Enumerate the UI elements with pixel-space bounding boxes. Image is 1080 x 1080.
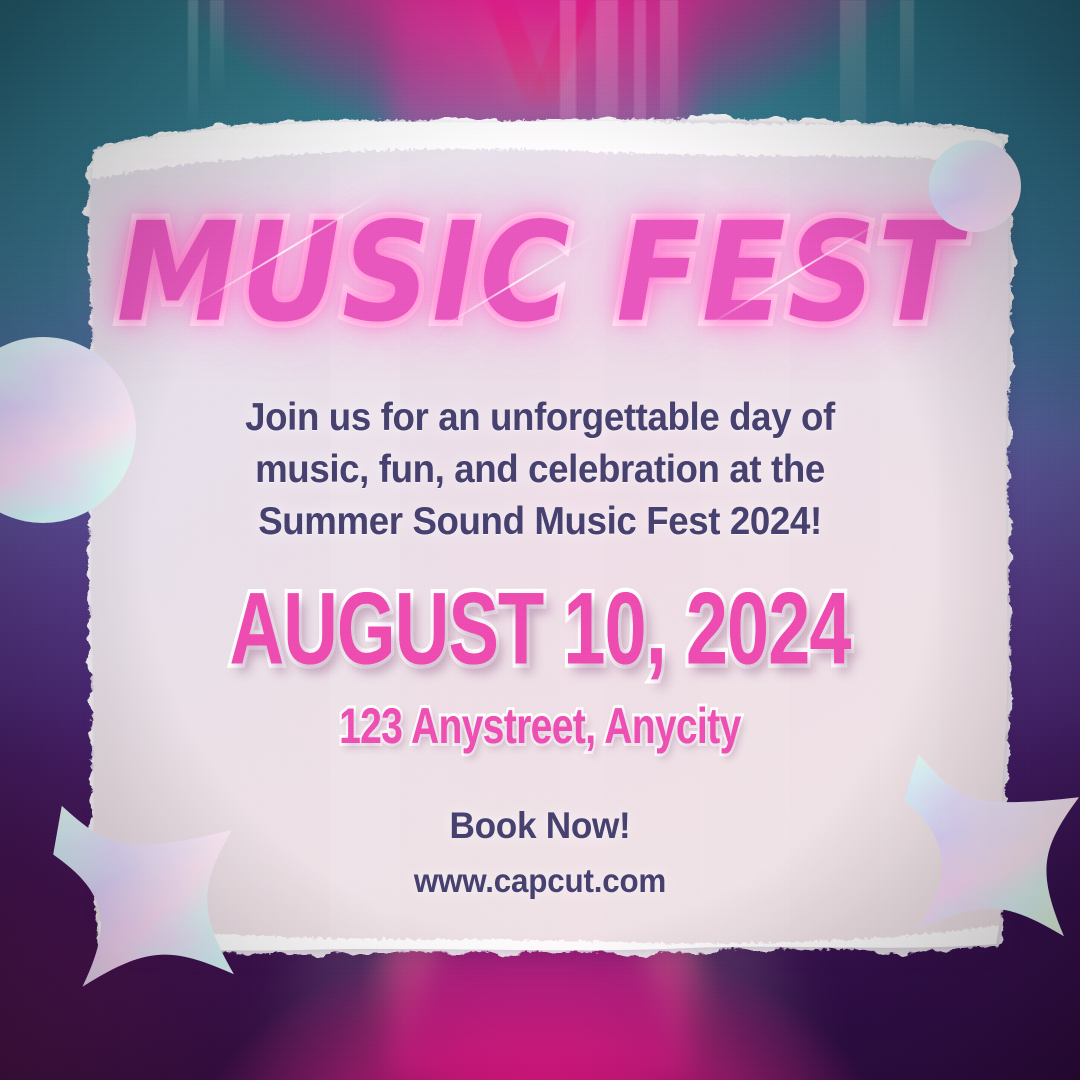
overlay-vignette [0, 0, 1080, 1080]
poster-canvas: MUSIC FEST MUSIC FEST Join us for an unf… [0, 0, 1080, 1080]
